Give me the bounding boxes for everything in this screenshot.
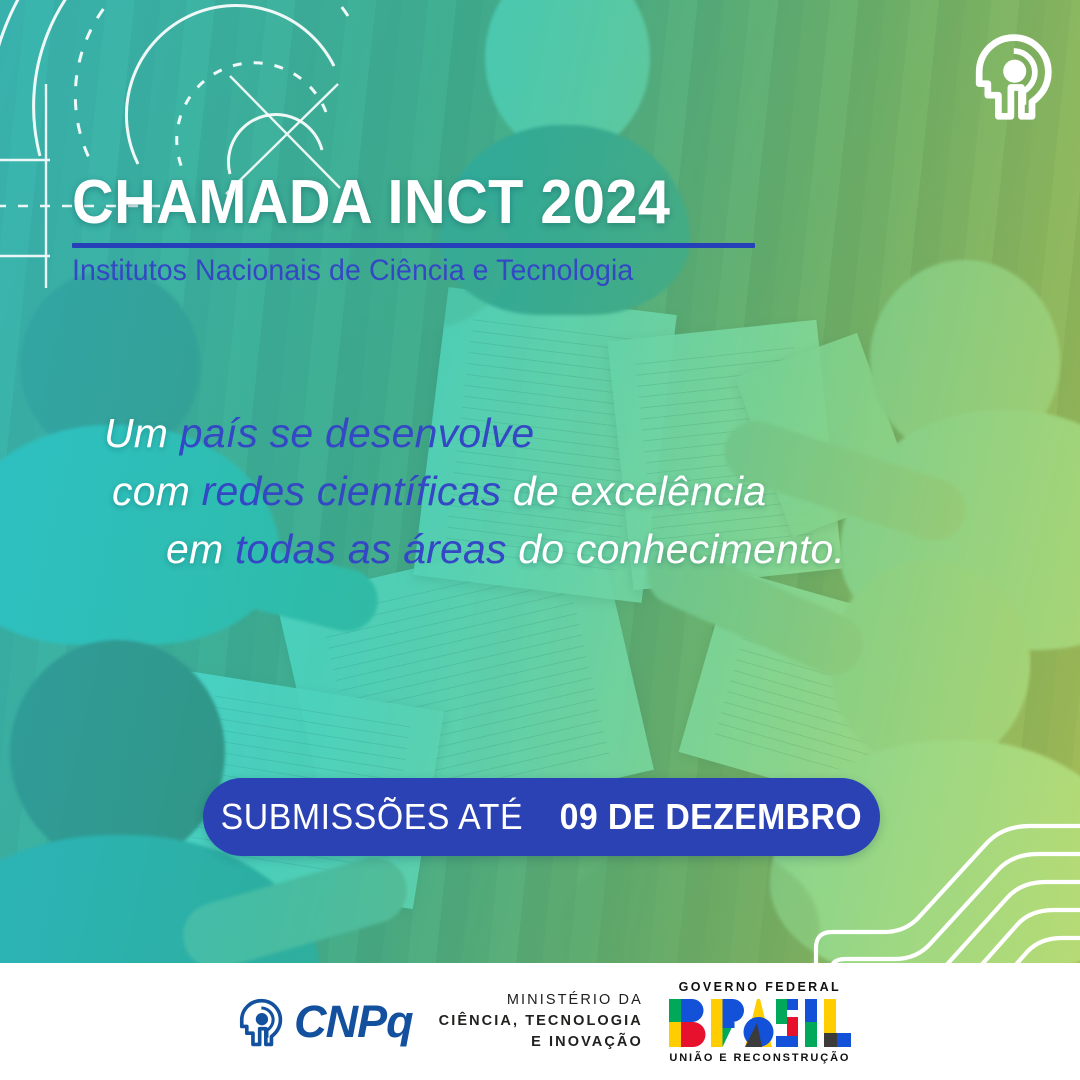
brasil-wordmark-icon xyxy=(669,997,851,1049)
government-top-label: GOVERNO FEDERAL xyxy=(679,980,841,994)
page-title: CHAMADA INCT 2024 xyxy=(72,172,909,234)
government-logo: GOVERNO FEDERAL xyxy=(669,980,851,1064)
quote-line: com redes científicas de excelência xyxy=(0,462,1080,520)
quote-segment: país se desenvolve xyxy=(180,410,535,456)
cnpq-wordmark: CNPq xyxy=(294,999,413,1044)
title-divider xyxy=(72,243,755,248)
cnpq-logo: CNPq xyxy=(229,994,413,1050)
government-bottom-label: UNIÃO E RECONSTRUÇÃO xyxy=(669,1052,850,1064)
deadline-prefix: SUBMISSÕES ATÉ xyxy=(221,796,524,838)
quote-segment: todas as áreas xyxy=(235,526,518,572)
quote-block: Um país se desenvolve com redes científi… xyxy=(0,404,1080,579)
deadline-badge[interactable]: SUBMISSÕES ATÉ 09 DE DEZEMBRO xyxy=(203,778,880,856)
poster-canvas: CHAMADA INCT 2024 Institutos Nacionais d… xyxy=(0,0,1080,1080)
quote-segment: do conhecimento. xyxy=(518,526,845,572)
quote-segment: com xyxy=(112,468,202,514)
quote-line: em todas as áreas do conhecimento. xyxy=(0,520,1080,578)
ministry-line-1: MINISTÉRIO DA xyxy=(439,990,643,1011)
cnpq-head-symbol-icon xyxy=(960,28,1056,124)
page-subtitle: Institutos Nacionais de Ciência e Tecnol… xyxy=(72,254,927,289)
quote-segment: redes científicas xyxy=(202,468,513,514)
cnpq-head-symbol-icon xyxy=(229,994,287,1050)
quote-segment: de excelência xyxy=(513,468,766,514)
headline-block: CHAMADA INCT 2024 Institutos Nacionais d… xyxy=(72,172,972,289)
quote-line: Um país se desenvolve xyxy=(0,404,1080,462)
quote-segment: Um xyxy=(104,410,180,456)
ministry-block: MINISTÉRIO DA CIÊNCIA, TECNOLOGIA E INOV… xyxy=(439,990,643,1053)
footer-bar: CNPq MINISTÉRIO DA CIÊNCIA, TECNOLOGIA E… xyxy=(0,963,1080,1080)
deadline-date: 09 DE DEZEMBRO xyxy=(560,796,862,838)
quote-segment: em xyxy=(166,526,235,572)
ministry-line-3: E INOVAÇÃO xyxy=(439,1032,643,1053)
ministry-line-2: CIÊNCIA, TECNOLOGIA xyxy=(439,1011,643,1032)
